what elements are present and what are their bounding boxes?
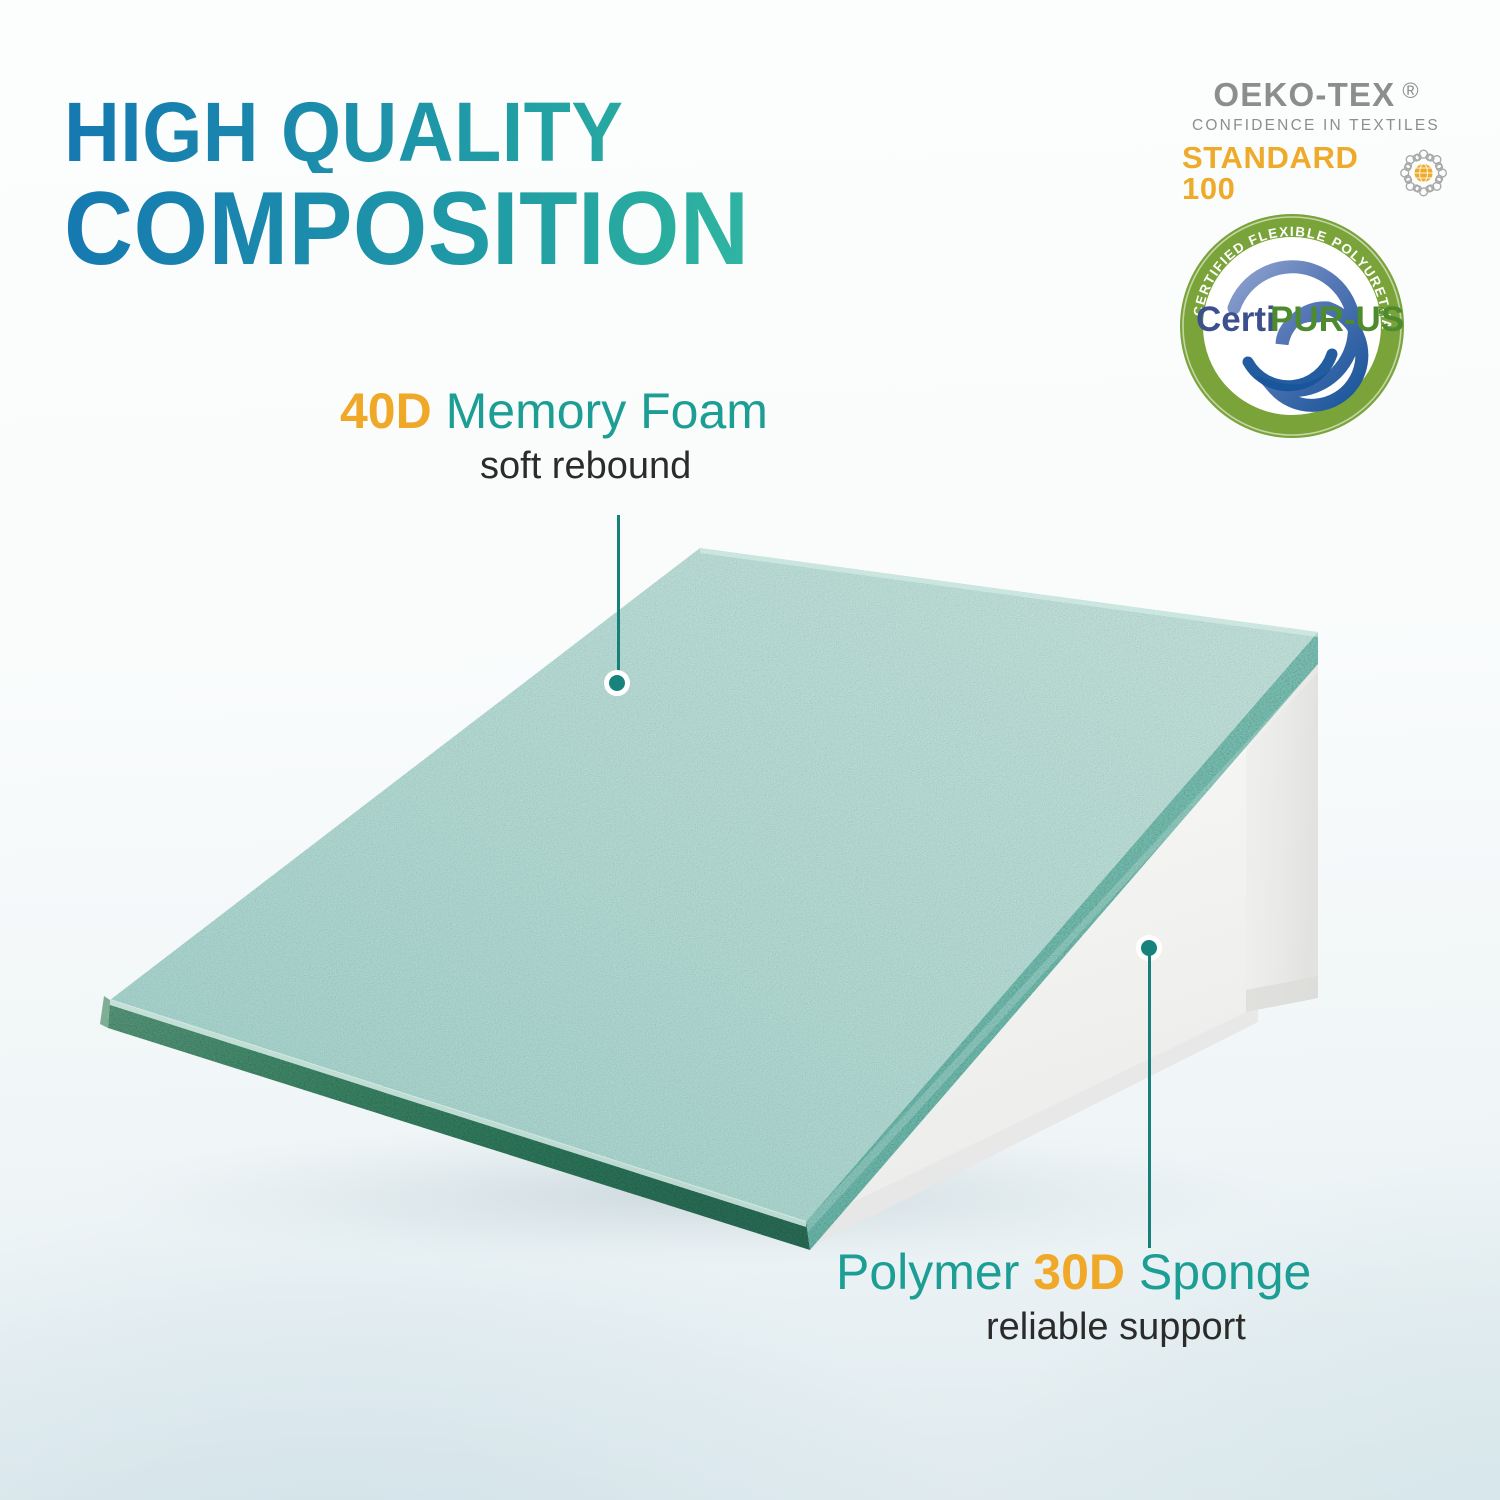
memory-foam-density: 40D: [340, 383, 432, 439]
polymer-sponge-description: reliable support: [836, 1306, 1476, 1349]
memory-foam-layer: [100, 548, 1318, 1250]
foam-top-face: [110, 548, 1318, 1222]
callout-leader-line-memory-foam: [617, 515, 620, 683]
foam-front-edge: [108, 1000, 810, 1250]
callout-label-polymer-sponge: Polymer 30D Sponge reliable support: [836, 1246, 1476, 1349]
polymer-sponge-density: 30D: [1033, 1244, 1125, 1300]
oeko-tex-name-row: OEKO-TEX ®: [1182, 78, 1450, 111]
memory-foam-description: soft rebound: [340, 445, 920, 488]
callout-label-memory-foam: 40D Memory Foam soft rebound: [340, 385, 920, 488]
certipur-wordmark: Certi PUR-US ®: [1196, 300, 1404, 339]
title-line-1: HIGH QUALITY: [64, 92, 984, 173]
oeko-tex-tagline: CONFIDENCE IN TEXTILES: [1182, 118, 1450, 134]
oeko-tex-standard-row: STANDARD 100: [1182, 142, 1450, 204]
certipur-us-badge: CONTAINS CERTIFIED FLEXIBLE POLYURETHANE…: [1178, 212, 1406, 440]
oeko-tex-badge: OEKO-TEX ® CONFIDENCE IN TEXTILES STANDA…: [1182, 78, 1450, 204]
callout-marker-dot-memory-foam: [604, 670, 630, 696]
foam-slope-edge: [806, 632, 1318, 1250]
oeko-flower-globe-icon: [1397, 142, 1450, 204]
certipur-word-certi: Certi: [1196, 300, 1276, 339]
title-line-2: COMPOSITION: [64, 179, 984, 280]
certipur-registered-icon: ®: [1376, 304, 1386, 319]
foam-left-tip: [100, 996, 110, 1028]
callout-leader-line-polymer-sponge: [1148, 948, 1151, 1248]
polymer-sponge-title: Polymer 30D Sponge: [836, 1246, 1476, 1298]
polymer-sponge-base: [790, 632, 1318, 1250]
oeko-tex-standard: STANDARD 100: [1182, 142, 1387, 204]
polymer-sponge-prefix: Polymer: [836, 1244, 1019, 1300]
page-title: HIGH QUALITY COMPOSITION: [64, 92, 1064, 280]
registered-trademark-icon: ®: [1402, 78, 1418, 103]
sponge-front-face: [792, 650, 1246, 1228]
oeko-tex-name: OEKO-TEX: [1213, 78, 1395, 111]
memory-foam-title: 40D Memory Foam: [340, 385, 920, 437]
infographic-canvas: HIGH QUALITY COMPOSITION OEKO-TEX ® CONF…: [0, 0, 1500, 1500]
polymer-sponge-suffix: Sponge: [1139, 1244, 1311, 1300]
sponge-right-face: [1246, 632, 1318, 1012]
memory-foam-material: Memory Foam: [446, 383, 768, 439]
